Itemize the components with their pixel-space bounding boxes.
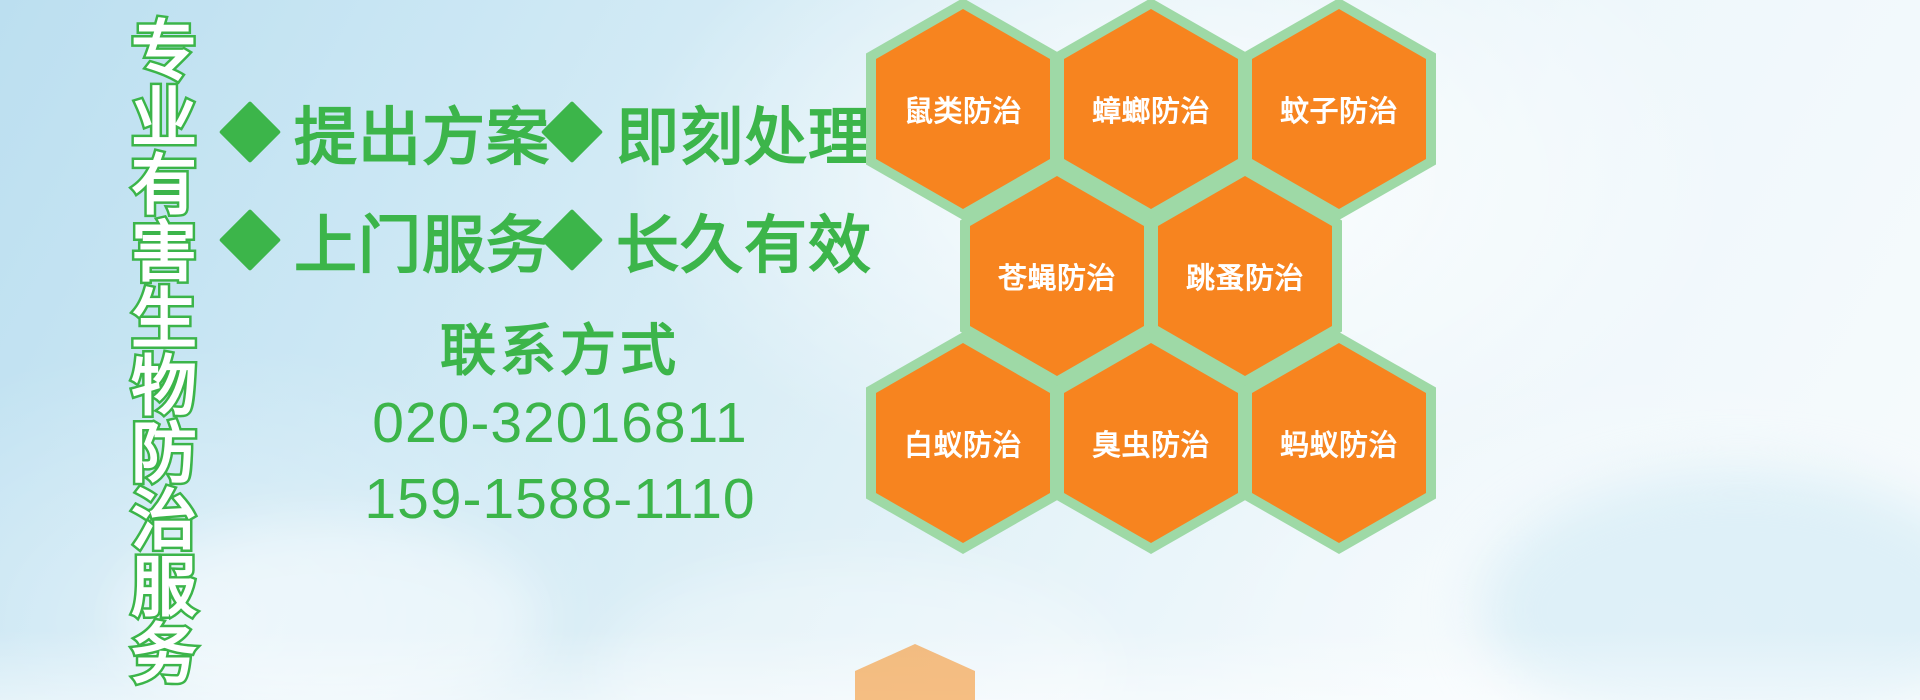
hexagon-inner: 蚊子防治: [1252, 9, 1426, 209]
contact-block: 联系方式 020-32016811 159-1588-1110: [300, 316, 820, 538]
diamond-bullet-icon: [541, 209, 603, 271]
hexagon-inner: 苍蝇防治: [970, 176, 1144, 376]
contact-phone-landline[interactable]: 020-32016811: [300, 386, 820, 462]
contact-phone-mobile[interactable]: 159-1588-1110: [300, 462, 820, 538]
feature-label-2: 上门服务: [294, 195, 550, 286]
hexagon-inner: 臭虫防治: [1064, 343, 1238, 543]
feature-item-3: 长久有效: [550, 195, 872, 286]
feature-list: 提出方案 即刻处理 上门服务 长久有效: [228, 78, 868, 294]
diamond-bullet-icon: [219, 209, 281, 271]
service-honeycomb: 鼠类防治 蟑螂防治 蚊子防治 苍蝇防治 跳蚤防治 白蚁防治: [858, 0, 1458, 544]
hexagon-inner: 跳蚤防治: [1158, 176, 1332, 376]
service-label-0: 鼠类防治: [904, 88, 1022, 130]
vertical-headline: 专业有害生物防治服务: [106, 16, 192, 686]
hexagon-inner: 鼠类防治: [876, 9, 1050, 209]
hexagon-inner: 蟑螂防治: [1064, 9, 1238, 209]
feature-label-3: 长久有效: [616, 195, 872, 286]
service-label-2: 蚊子防治: [1280, 88, 1398, 130]
hexagon-inner: 蚂蚁防治: [1252, 343, 1426, 543]
service-label-5: 白蚁防治: [904, 422, 1022, 464]
diamond-bullet-icon: [219, 101, 281, 163]
feature-label-0: 提出方案: [294, 87, 550, 178]
service-label-7: 蚂蚁防治: [1280, 422, 1398, 464]
service-label-4: 跳蚤防治: [1186, 255, 1304, 297]
contact-title: 联系方式: [300, 316, 820, 386]
service-label-6: 臭虫防治: [1092, 422, 1210, 464]
promo-banner: 专业有害生物防治服务 提出方案 即刻处理 上门服务 长久有效 联系方式: [0, 0, 1920, 700]
feature-item-0: 提出方案: [228, 87, 550, 178]
hexagon-inner: 白蚁防治: [876, 343, 1050, 543]
service-label-3: 苍蝇防治: [998, 255, 1116, 297]
service-label-1: 蟑螂防治: [1092, 88, 1210, 130]
feature-row-1: 提出方案 即刻处理: [228, 78, 868, 186]
feature-item-1: 即刻处理: [550, 87, 872, 178]
feature-label-1: 即刻处理: [616, 87, 872, 178]
feature-row-2: 上门服务 长久有效: [228, 186, 868, 294]
feature-item-2: 上门服务: [228, 195, 550, 286]
diamond-bullet-icon: [541, 101, 603, 163]
